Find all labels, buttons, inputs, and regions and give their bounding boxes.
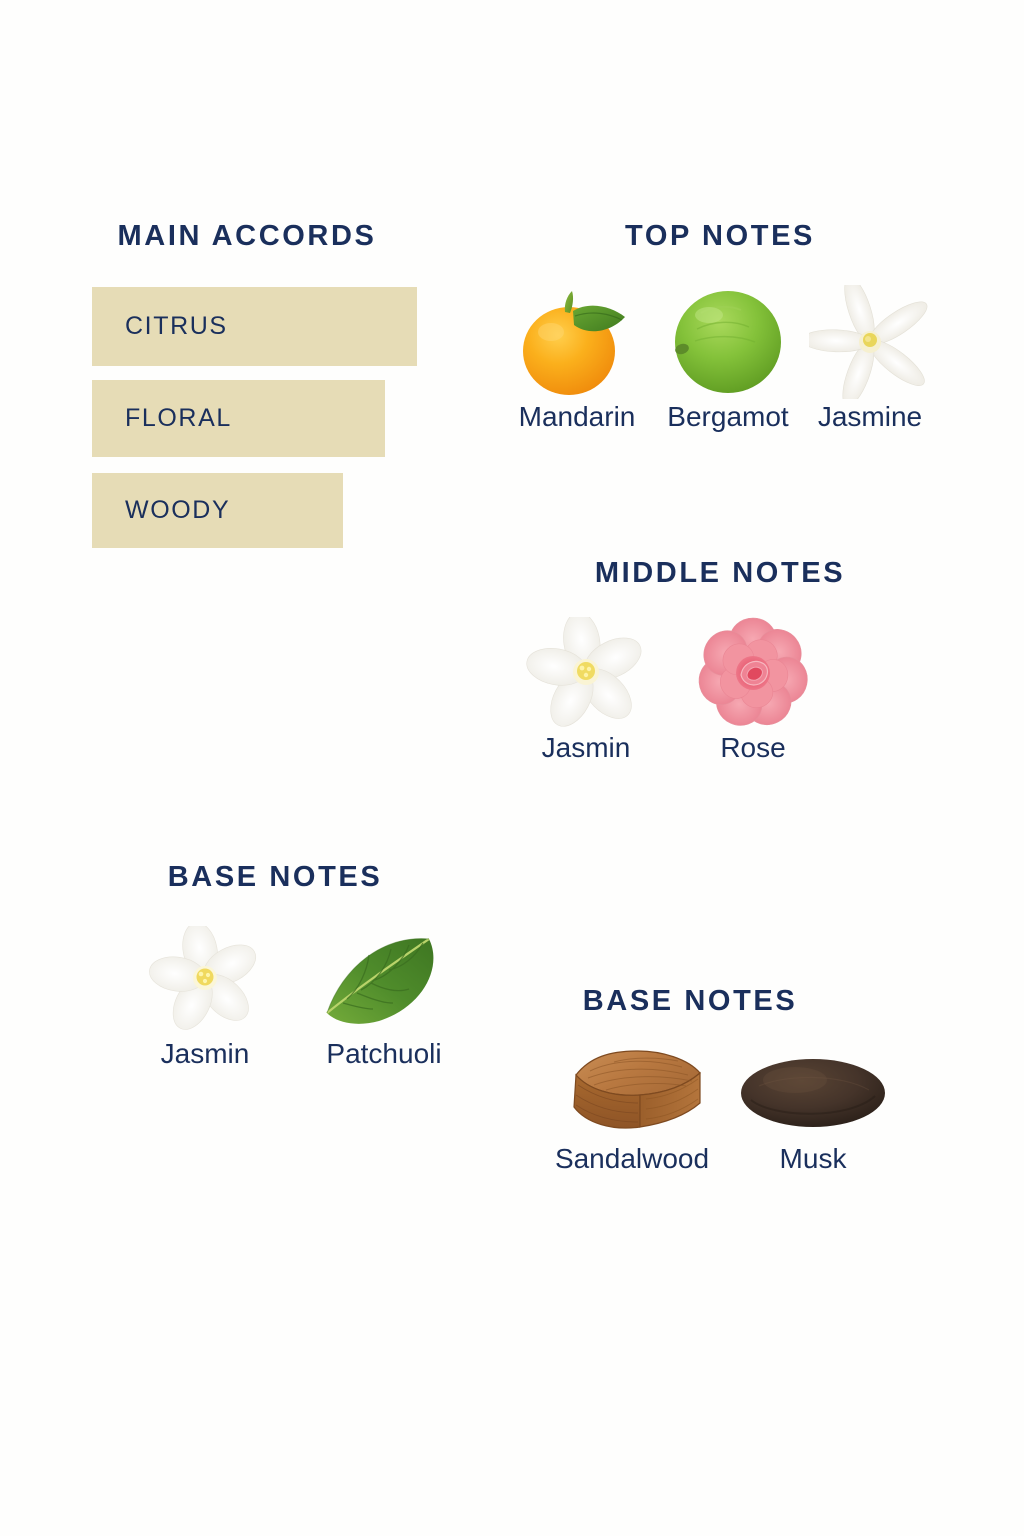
- note-item-rose[interactable]: Rose: [688, 614, 818, 764]
- base-notes-left-heading: BASE NOTES: [130, 861, 420, 894]
- accord-bar-citrus[interactable]: CITRUS: [92, 287, 417, 366]
- bergamot-art: [663, 283, 793, 401]
- top-notes-heading: TOP NOTES: [510, 220, 930, 253]
- accord-label-citrus: CITRUS: [125, 312, 228, 341]
- bergamot-icon: [669, 285, 787, 399]
- jasmin-flower-icon: [149, 926, 261, 1032]
- jasmine-star-flower-icon: [809, 285, 931, 399]
- jasmine-art: [805, 283, 935, 401]
- main-accords-heading: MAIN ACCORDS: [92, 220, 402, 253]
- patchouli-leaf-icon: [317, 927, 451, 1031]
- mandarin-icon: [515, 284, 639, 400]
- accord-bar-floral[interactable]: FLORAL: [92, 380, 385, 457]
- musk-stone-icon: [737, 1052, 889, 1134]
- note-label-rose: Rose: [720, 732, 785, 764]
- rose-art: [688, 614, 818, 732]
- note-item-patchuoli[interactable]: Patchuoli: [319, 920, 449, 1070]
- rose-icon: [693, 617, 813, 729]
- jasmin-flower-icon: [525, 617, 647, 729]
- note-label-bergamot: Bergamot: [667, 401, 788, 433]
- musk-art: [748, 1043, 878, 1143]
- patchuoli-art: [319, 920, 449, 1038]
- note-label-musk: Musk: [780, 1143, 847, 1175]
- note-label-jasmine: Jasmine: [818, 401, 922, 433]
- note-label-sandalwood: Sandalwood: [555, 1143, 709, 1175]
- jasmin-base-art: [140, 920, 270, 1038]
- note-label-jasmin-middle: Jasmin: [542, 732, 631, 764]
- middle-notes-heading: MIDDLE NOTES: [500, 557, 940, 590]
- note-item-mandarin[interactable]: Mandarin: [512, 283, 642, 433]
- jasmin-middle-art: [521, 614, 651, 732]
- note-item-jasmine[interactable]: Jasmine: [805, 283, 935, 433]
- sandalwood-art: [567, 1043, 697, 1143]
- note-item-sandalwood[interactable]: Sandalwood: [567, 1043, 697, 1175]
- sandalwood-block-icon: [554, 1045, 710, 1141]
- fragrance-notes-infographic: MAIN ACCORDS CITRUS FLORAL WOODY TOP NOT…: [0, 0, 1024, 1536]
- note-label-patchuoli: Patchuoli: [326, 1038, 441, 1070]
- note-label-mandarin: Mandarin: [519, 401, 636, 433]
- note-item-musk[interactable]: Musk: [748, 1043, 878, 1175]
- accord-bar-woody[interactable]: WOODY: [92, 473, 343, 548]
- base-notes-right-heading: BASE NOTES: [530, 985, 850, 1018]
- accord-label-floral: FLORAL: [125, 404, 232, 433]
- note-item-jasmin-middle[interactable]: Jasmin: [521, 614, 651, 764]
- note-label-jasmin-base: Jasmin: [161, 1038, 250, 1070]
- accord-label-woody: WOODY: [125, 496, 230, 525]
- note-item-bergamot[interactable]: Bergamot: [663, 283, 793, 433]
- note-item-jasmin-base[interactable]: Jasmin: [140, 920, 270, 1070]
- mandarin-art: [512, 283, 642, 401]
